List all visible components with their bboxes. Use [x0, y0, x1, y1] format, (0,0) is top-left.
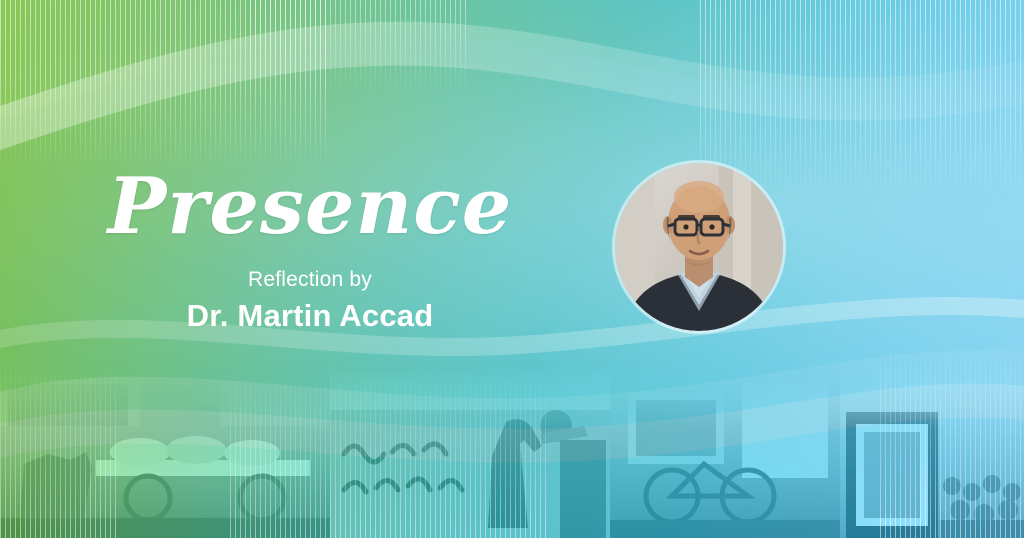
presence-reflection-banner: Presence Reflection by Dr. Martin Accad [0, 0, 1024, 538]
collage-photo-street-handcart [0, 368, 330, 538]
page-title: Presence [0, 168, 620, 246]
author-name: Dr. Martin Accad [0, 298, 620, 334]
collage-photo-bicycle-shopfront [610, 368, 840, 538]
avatar [615, 163, 783, 331]
collage-photo-framed-crowd [840, 368, 1024, 538]
byline-prefix: Reflection by [0, 268, 620, 292]
collage-photo-man-painting-wall [330, 368, 610, 538]
title-block: Presence Reflection by Dr. Martin Accad [0, 168, 620, 334]
bottom-photo-collage-monochrome [0, 368, 1024, 538]
portrait-photo [615, 163, 783, 331]
